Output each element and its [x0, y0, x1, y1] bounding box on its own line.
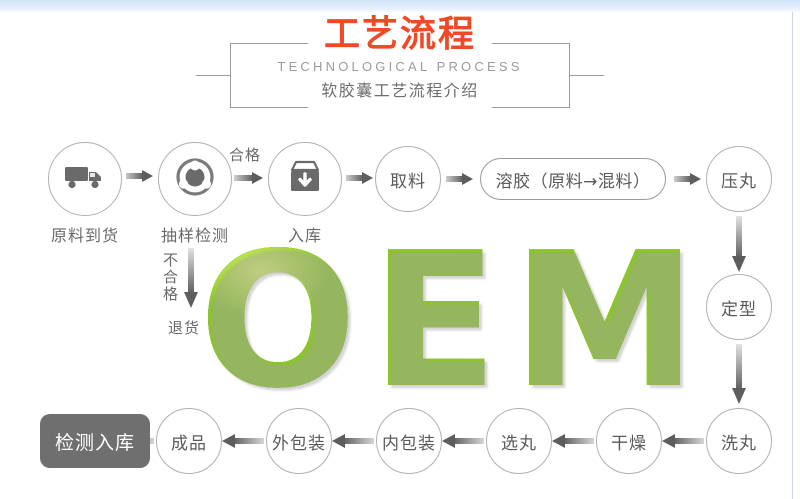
header-bracket-left-bottom [230, 107, 308, 108]
node-label-press-pill: 压丸 [721, 167, 757, 192]
node-final-inspection-warehouse[interactable]: 检测入库 [40, 414, 150, 468]
arrow-outer-package-to-finished [222, 433, 264, 449]
node-dry[interactable]: 干燥 [596, 408, 662, 474]
node-label-final-inspection-warehouse: 检测入库 [55, 428, 135, 455]
inbox-down-arrow-icon [286, 160, 324, 199]
arrow-press-to-shape-setting [730, 216, 748, 274]
node-label-wash-pill: 洗丸 [721, 429, 757, 454]
process-flow-infographic: 工艺流程 TECHNOLOGICAL PROCESS 软胶囊工艺流程介绍 OEM… [0, 0, 800, 499]
oem-watermark: OEM [200, 232, 710, 410]
arrow-dry-to-select-pill [552, 433, 594, 449]
header-bracket-right-bottom [492, 107, 570, 108]
node-inner-package[interactable]: 内包装 [376, 408, 442, 474]
node-press-pill[interactable]: 压丸 [706, 146, 772, 212]
edge-label-qualified: 合格 [229, 144, 261, 165]
node-label-shape-setting: 定型 [721, 295, 757, 320]
node-label-select-pill: 选丸 [501, 429, 537, 454]
page-title: 工艺流程 [250, 14, 550, 56]
header-bracket-right-stub [570, 75, 604, 76]
caption-sampling-inspection: 抽样检测 [147, 222, 243, 246]
node-label-outer-package: 外包装 [272, 429, 326, 454]
arrow-shape-setting-to-wash-pill [730, 344, 748, 406]
edge-label-unqualified: 不合格 [160, 252, 181, 303]
page-subtitle: 软胶囊工艺流程介绍 [250, 79, 550, 103]
node-select-pill[interactable]: 选丸 [486, 408, 552, 474]
arrow-arrival-to-sampling [126, 168, 154, 184]
node-label-inner-package: 内包装 [382, 429, 436, 454]
arrow-sol-gel-to-press-pill [674, 171, 702, 187]
node-outer-package[interactable]: 外包装 [266, 408, 332, 474]
edge-label-return-goods: 退货 [168, 317, 200, 338]
inspection-gear-icon [175, 157, 215, 202]
node-label-sol-gel: 溶胶（原料→混料） [496, 167, 651, 192]
node-take-material[interactable]: 取料 [375, 146, 441, 212]
top-decoration-bar [0, 0, 800, 12]
arrow-take-material-to-sol-gel [446, 171, 474, 187]
arrow-sampling-to-warehouse [234, 170, 264, 186]
caption-warehouse-in: 入库 [266, 222, 344, 246]
node-finished-product[interactable]: 成品 [156, 408, 222, 474]
node-shape-setting[interactable]: 定型 [706, 274, 772, 340]
node-label-take-material: 取料 [390, 167, 426, 192]
arrow-select-pill-to-inner-package [442, 433, 484, 449]
arrow-inner-to-outer-package [332, 433, 374, 449]
page-title-english: TECHNOLOGICAL PROCESS [250, 57, 550, 77]
header-bracket-left-stub [196, 75, 230, 76]
node-label-dry: 干燥 [611, 429, 647, 454]
arrow-reject-down [182, 248, 200, 310]
caption-raw-material-arrival: 原料到货 [37, 222, 133, 246]
node-wash-pill[interactable]: 洗丸 [706, 408, 772, 474]
arrow-wash-to-dry [662, 433, 704, 449]
header-text-block: 工艺流程 TECHNOLOGICAL PROCESS 软胶囊工艺流程介绍 [250, 14, 550, 103]
node-label-finished-product: 成品 [171, 429, 207, 454]
header: 工艺流程 TECHNOLOGICAL PROCESS 软胶囊工艺流程介绍 [0, 14, 800, 114]
arrow-warehouse-to-take-material [346, 170, 374, 186]
node-sol-gel[interactable]: 溶胶（原料→混料） [480, 158, 666, 200]
header-bracket-left-spine [230, 43, 231, 107]
node-sampling-inspection[interactable] [158, 142, 232, 216]
node-warehouse-in[interactable] [268, 142, 342, 216]
truck-icon [64, 164, 106, 195]
node-raw-material-arrival[interactable] [48, 142, 122, 216]
header-bracket-right-spine [569, 43, 570, 107]
